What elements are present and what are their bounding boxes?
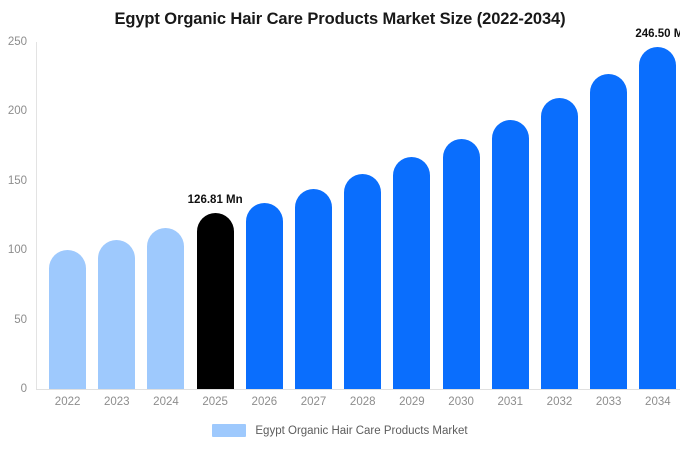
bar-slot xyxy=(43,42,92,389)
bar-slot xyxy=(486,42,535,389)
bar-series: 126.81 Mn246.50 Mn xyxy=(43,42,680,389)
x-axis-label-2023: 2023 xyxy=(92,396,141,408)
bar-slot xyxy=(387,42,436,389)
y-axis-tick-label: 100 xyxy=(8,244,36,256)
bar-2027[interactable] xyxy=(295,189,332,389)
bar-2026[interactable] xyxy=(246,203,283,389)
bar-slot xyxy=(535,42,584,389)
bar-2025[interactable]: 126.81 Mn xyxy=(197,213,234,389)
x-axis-spine xyxy=(36,389,680,390)
bar-2034[interactable]: 246.50 Mn xyxy=(639,47,676,389)
bar-2028[interactable] xyxy=(344,174,381,389)
x-axis-label-2025: 2025 xyxy=(191,396,240,408)
chart-container: Egypt Organic Hair Care Products Market … xyxy=(0,0,680,450)
x-axis-label-2027: 2027 xyxy=(289,396,338,408)
y-axis-tick-label: 250 xyxy=(8,36,36,48)
y-axis-tick-label: 50 xyxy=(14,314,36,326)
bar-2022[interactable] xyxy=(49,250,86,389)
x-axis-label-2030: 2030 xyxy=(437,396,486,408)
chart-title: Egypt Organic Hair Care Products Market … xyxy=(0,10,680,29)
bar-slot: 246.50 Mn xyxy=(633,42,680,389)
x-axis-label-2026: 2026 xyxy=(240,396,289,408)
bar-slot: 126.81 Mn xyxy=(191,42,240,389)
bar-value-label-2025: 126.81 Mn xyxy=(188,194,243,206)
bar-2029[interactable] xyxy=(393,157,430,389)
plot-area: 050100150200250 126.81 Mn246.50 Mn xyxy=(36,42,680,389)
bar-2023[interactable] xyxy=(98,240,135,389)
y-axis-tick-label: 150 xyxy=(8,175,36,187)
y-axis-tick-label: 200 xyxy=(8,105,36,117)
chart-legend: Egypt Organic Hair Care Products Market xyxy=(0,424,680,437)
bar-2032[interactable] xyxy=(541,98,578,389)
bar-slot xyxy=(437,42,486,389)
bar-slot xyxy=(240,42,289,389)
x-axis-label-2024: 2024 xyxy=(141,396,190,408)
bar-2031[interactable] xyxy=(492,120,529,389)
x-axis-label-2034: 2034 xyxy=(633,396,680,408)
legend-swatch[interactable] xyxy=(212,424,246,437)
bar-slot xyxy=(584,42,633,389)
bar-2033[interactable] xyxy=(590,74,627,389)
x-axis-label-2022: 2022 xyxy=(43,396,92,408)
bar-2030[interactable] xyxy=(443,139,480,389)
x-axis-label-2031: 2031 xyxy=(486,396,535,408)
x-axis-label-2028: 2028 xyxy=(338,396,387,408)
x-axis-labels: 2022202320242025202620272028202920302031… xyxy=(43,396,680,408)
bar-2024[interactable] xyxy=(147,228,184,389)
bar-slot xyxy=(141,42,190,389)
y-axis-tick-label: 0 xyxy=(21,383,36,395)
x-axis-label-2032: 2032 xyxy=(535,396,584,408)
bar-slot xyxy=(338,42,387,389)
bar-slot xyxy=(289,42,338,389)
x-axis-label-2029: 2029 xyxy=(387,396,436,408)
bar-slot xyxy=(92,42,141,389)
legend-label[interactable]: Egypt Organic Hair Care Products Market xyxy=(255,425,467,437)
x-axis-label-2033: 2033 xyxy=(584,396,633,408)
bar-value-label-2034: 246.50 Mn xyxy=(635,28,680,40)
